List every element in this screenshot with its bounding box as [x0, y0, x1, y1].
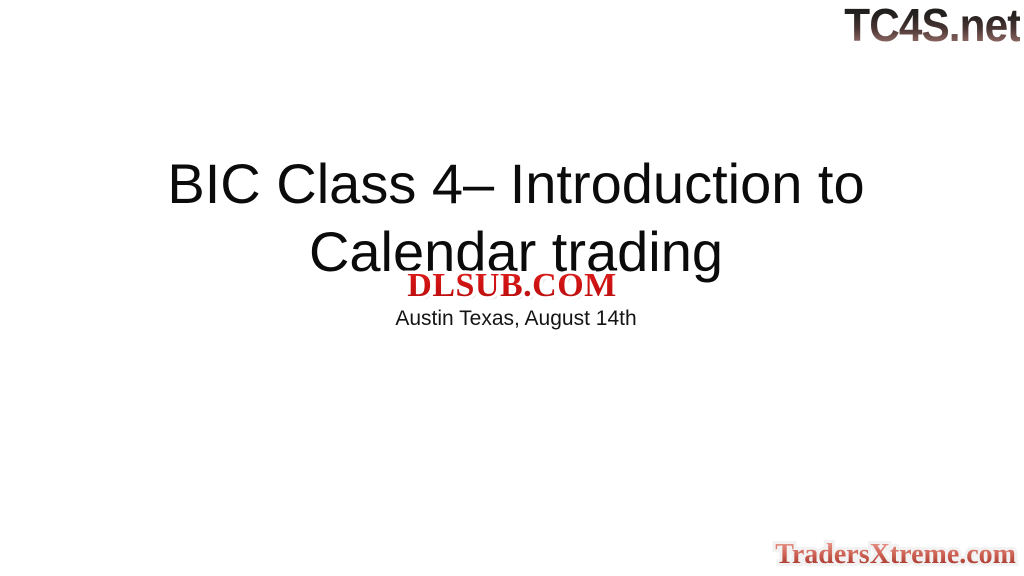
dlsub-watermark: DLSUB.COM DLSUB.COM	[407, 268, 616, 304]
presentation-slide: TC4S.net TC4S.net BIC Class 4– Introduct…	[0, 0, 1024, 576]
slide-subtitle: Austin Texas, August 14th	[0, 306, 1024, 332]
tc4s-logo-text: TC4S.net	[844, 2, 1020, 48]
tradersxtreme-watermark: TradersXtreme.com TradersXtreme.com	[775, 540, 1016, 570]
page-title: BIC Class 4– Introduction to Calendar tr…	[0, 150, 1024, 286]
page-title-line-1: BIC Class 4– Introduction to	[8, 150, 1024, 218]
dlsub-watermark-text: DLSUB.COM	[407, 267, 616, 304]
tradersxtreme-watermark-text: TradersXtreme.com	[775, 539, 1016, 570]
